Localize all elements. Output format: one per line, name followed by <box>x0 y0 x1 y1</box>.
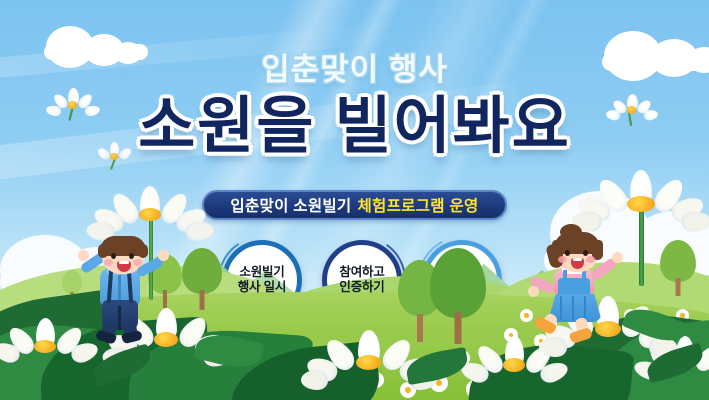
spring-wish-event-banner: 입춘맞이 행사 소원을 빌어봐요 입춘맞이 소원빌기 체험프로그램 운영 소원빌… <box>0 0 709 400</box>
boy-character-illustration <box>78 236 168 342</box>
boy-eye <box>129 253 134 259</box>
boy-hand <box>78 250 89 261</box>
banner-subtitle: 입춘맞이 행사 <box>0 44 709 89</box>
girl-dress-strap <box>563 270 567 282</box>
boy-eye <box>111 253 116 259</box>
girl-hand <box>612 252 623 263</box>
boy-shirt-placket <box>118 270 121 304</box>
tree-icon <box>430 248 486 344</box>
girl-character-illustration <box>528 230 624 342</box>
circle-button-label: 참여하고 인증하기 <box>339 265 384 295</box>
boy-teeth <box>119 261 129 264</box>
boy-pants-seam <box>118 306 121 330</box>
tree-icon <box>182 248 222 310</box>
large-daisy-icon <box>2 318 88 374</box>
girl-skirt-pleat <box>584 296 586 320</box>
tree-icon <box>660 240 696 296</box>
girl-ponytail <box>560 224 582 240</box>
girl-hand <box>528 286 539 297</box>
program-ribbon-banner: 입춘맞이 소원빌기 체험프로그램 운영 <box>202 190 507 220</box>
girl-skirt-pleat <box>560 296 562 320</box>
circle-button-label: 소원빌기 행사 일시 <box>238 265 286 295</box>
girl-eye <box>583 250 588 256</box>
girl-dress-strap <box>582 270 586 282</box>
banner-main-title: 소원을 빌어봐요 <box>0 92 709 162</box>
girl-eye <box>565 250 570 256</box>
ribbon-text-highlight: 체험프로그램 운영 <box>358 194 479 216</box>
boy-cheek <box>104 259 113 266</box>
boy-hair-side <box>98 244 108 258</box>
ribbon-text-primary: 입춘맞이 소원빌기 <box>230 194 351 216</box>
girl-shoe <box>569 327 593 344</box>
girl-cheek <box>586 256 595 263</box>
boy-hand <box>158 250 169 261</box>
boy-hair-side <box>138 244 148 258</box>
large-daisy-icon <box>318 330 420 394</box>
girl-cheek <box>558 256 567 263</box>
girl-teeth <box>573 258 582 261</box>
girl-skirt-pleat <box>572 296 574 320</box>
large-daisy-icon <box>592 170 692 236</box>
